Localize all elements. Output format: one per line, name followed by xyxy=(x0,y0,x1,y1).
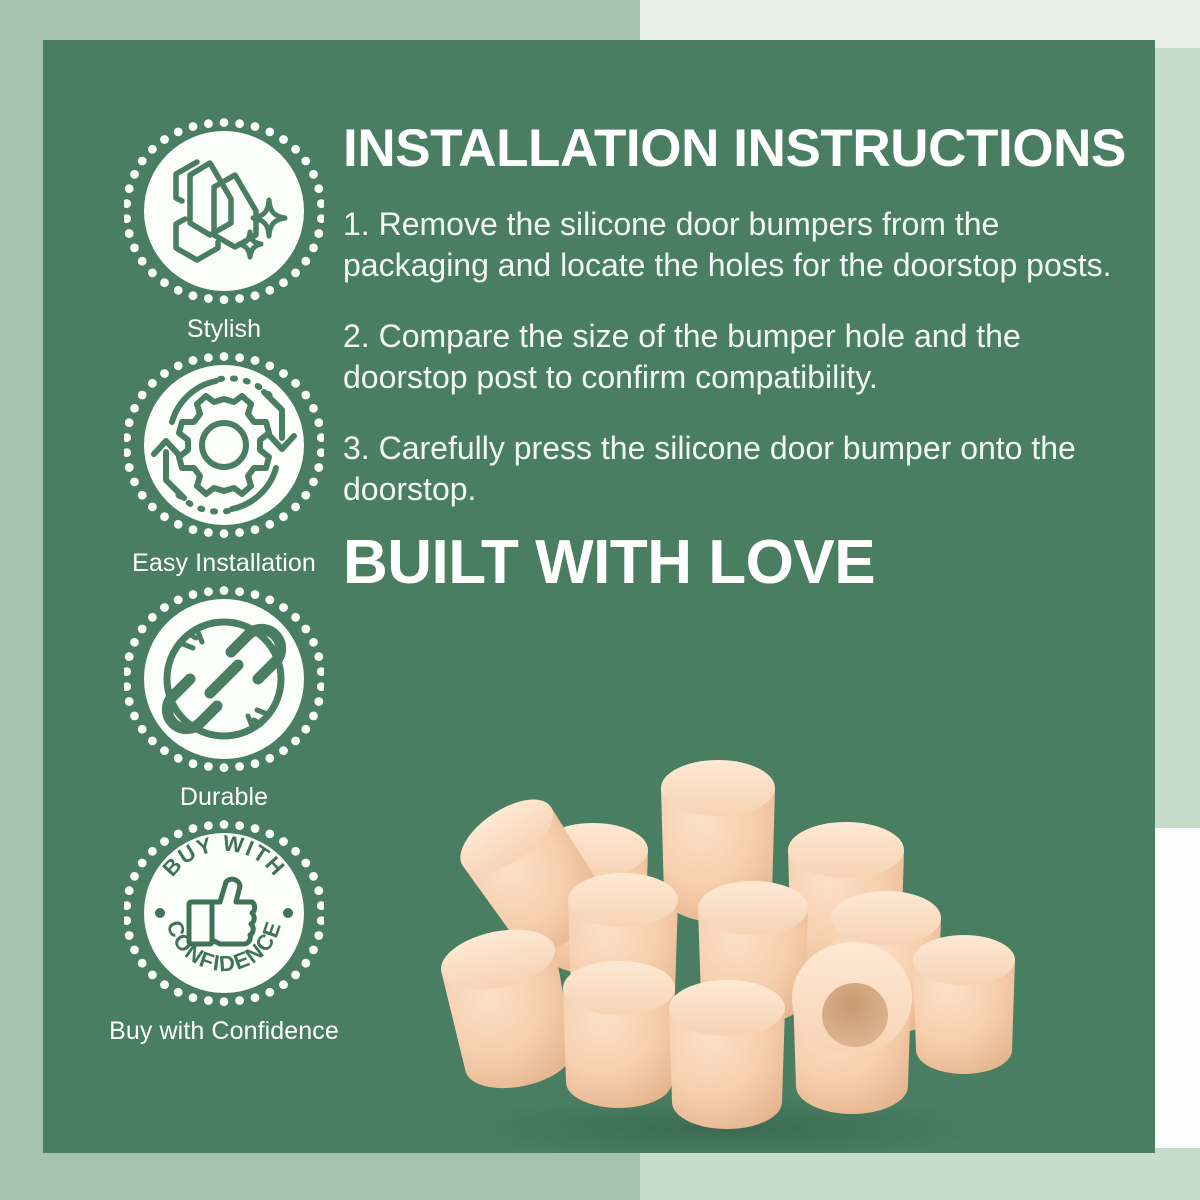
badge-disc-buy-with-confidence: BUY WITH CONFIDENCE xyxy=(124,820,324,1020)
bumper-front-center-left xyxy=(563,961,675,1108)
feature-badge-easy-installation: Easy Installation xyxy=(59,352,389,578)
bumper-center-hole xyxy=(822,983,888,1047)
page-title: INSTALLATION INSTRUCTIONS xyxy=(343,122,1155,176)
feature-badge-stylish: Stylish xyxy=(59,118,389,344)
badge-disc-durable xyxy=(124,586,324,786)
secondary-title: BUILT WITH LOVE xyxy=(343,532,1155,594)
instruction-step-2: 2. Compare the size of the bumper hole a… xyxy=(343,316,1133,398)
feature-badge-durable: Durable xyxy=(59,586,389,812)
main-green-panel: Stylish xyxy=(43,40,1155,1153)
background-block-sage-bottom xyxy=(0,1148,640,1200)
badge-label-durable: Durable xyxy=(59,782,389,812)
badge-disc-fill xyxy=(144,131,304,291)
instruction-step-1: 1. Remove the silicone door bumpers from… xyxy=(343,204,1133,286)
content-column: INSTALLATION INSTRUCTIONS 1. Remove the … xyxy=(343,122,1155,594)
infographic-canvas: Stylish xyxy=(0,0,1200,1200)
bumper-front-center xyxy=(669,980,785,1129)
bumper-far-right xyxy=(913,935,1015,1074)
badge-dot-left xyxy=(155,908,165,918)
product-photo-silicone-bumpers xyxy=(393,730,1053,1153)
feature-badge-buy-with-confidence: BUY WITH CONFIDENCE Buy with Confiden xyxy=(59,820,389,1046)
badge-disc-stylish xyxy=(124,118,324,318)
badge-label-easy-installation: Easy Installation xyxy=(59,548,389,578)
background-block-mint-bottom xyxy=(640,1148,1200,1200)
instruction-step-3: 3. Carefully press the silicone door bum… xyxy=(343,428,1133,510)
badge-label-buy-with-confidence: Buy with Confidence xyxy=(59,1016,389,1046)
badge-label-stylish: Stylish xyxy=(59,314,389,344)
bumper-front-right-with-hole xyxy=(792,942,912,1114)
badge-disc-easy-installation xyxy=(124,352,324,552)
badge-dot-right xyxy=(283,908,293,918)
feature-badge-column: Stylish xyxy=(59,118,389,1054)
